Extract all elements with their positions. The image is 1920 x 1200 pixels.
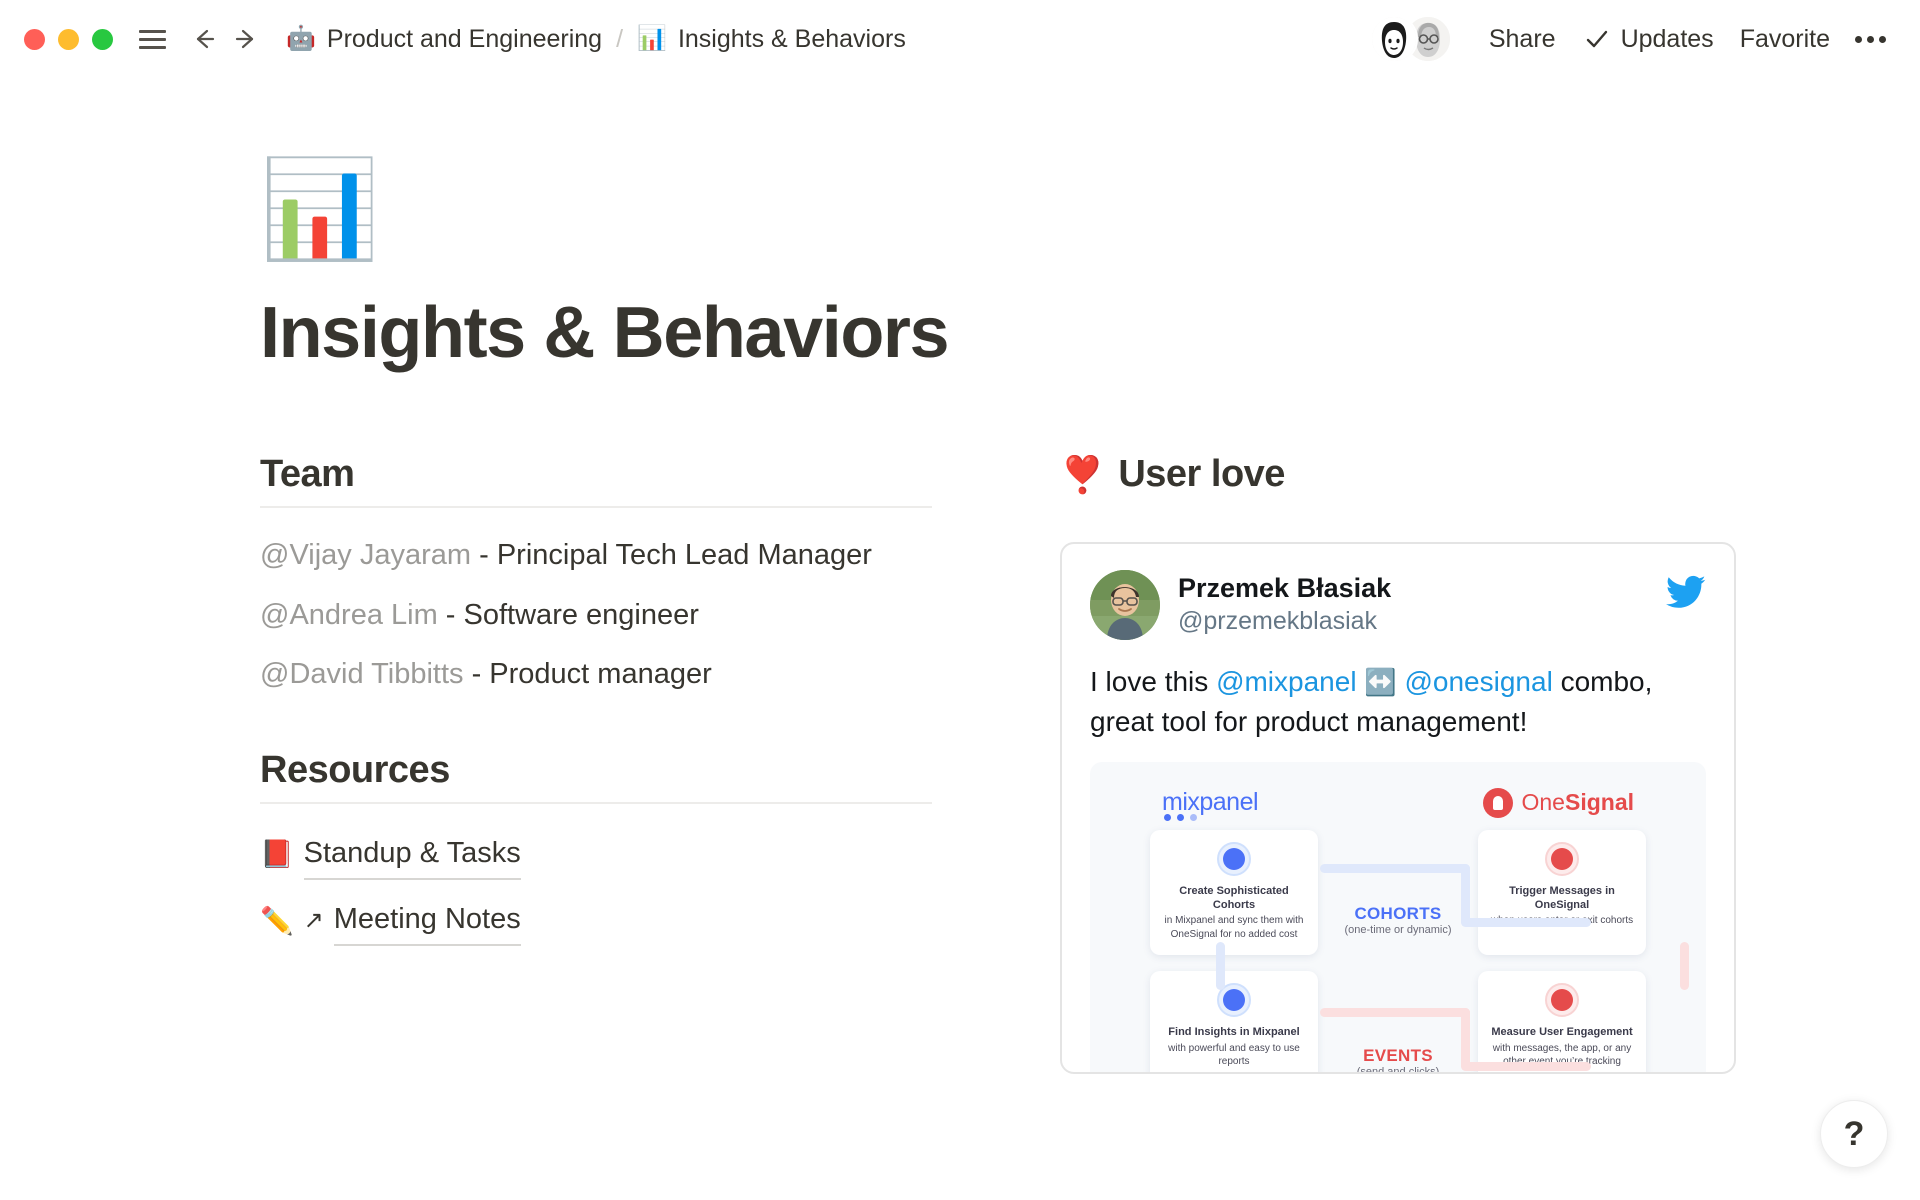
hamburger-icon bbox=[139, 30, 166, 49]
team-member-separator: - bbox=[438, 599, 464, 631]
share-button[interactable]: Share bbox=[1476, 19, 1569, 60]
diagram-card-subtitle: in Mixpanel and sync them with OneSignal… bbox=[1160, 914, 1308, 941]
tweet-text-part: I love this bbox=[1090, 666, 1216, 697]
document-list-icon bbox=[1217, 842, 1251, 876]
tweet-mention-mixpanel[interactable]: @mixpanel bbox=[1216, 666, 1356, 697]
flow-connector-right-vertical bbox=[1680, 942, 1689, 990]
breadcrumb: 🤖 Product and Engineering / 📊 Insights &… bbox=[279, 21, 913, 58]
diagram-card-title: Find Insights in Mixpanel bbox=[1160, 1025, 1308, 1039]
integration-diagram: mixpanel OneSignal bbox=[1090, 762, 1706, 1072]
two-column-layout: Team @Vijay Jayaram - Principal Tech Lea… bbox=[260, 453, 1860, 1074]
diagram-card: Find Insights in Mixpanel with powerful … bbox=[1150, 971, 1318, 1071]
flow-connector-cohorts-bottom bbox=[1461, 918, 1591, 927]
window-controls bbox=[24, 29, 113, 50]
team-member-separator: - bbox=[471, 539, 497, 571]
arrow-left-icon bbox=[188, 23, 220, 55]
breadcrumb-separator: / bbox=[609, 25, 630, 54]
flow-label-title: EVENTS bbox=[1357, 1046, 1440, 1066]
pencil-emoji: ✏️ bbox=[260, 900, 294, 943]
help-button[interactable]: ? bbox=[1820, 1100, 1888, 1168]
updates-button[interactable]: Updates bbox=[1569, 18, 1727, 60]
arrow-right-icon bbox=[230, 23, 262, 55]
flow-label-cohorts: COHORTS (one-time or dynamic) bbox=[1345, 904, 1452, 936]
ellipsis-icon bbox=[1879, 36, 1886, 43]
ellipsis-icon bbox=[1855, 36, 1862, 43]
external-link-arrow-icon: ↗ bbox=[304, 902, 324, 940]
flow-connector-events-mid bbox=[1461, 1008, 1470, 1070]
mixpanel-dots-icon bbox=[1164, 814, 1197, 821]
team-member-role: Product manager bbox=[489, 658, 711, 690]
user-love-heading: ❣️ User love bbox=[1060, 453, 1740, 496]
avatar bbox=[1370, 15, 1418, 63]
diagram-card-title: Trigger Messages in OneSignal bbox=[1488, 884, 1636, 913]
app-window: 🤖 Product and Engineering / 📊 Insights &… bbox=[0, 0, 1920, 1200]
tweet-text: I love this @mixpanel ↔️ @onesignal comb… bbox=[1090, 662, 1706, 742]
flow-connector-events-top bbox=[1320, 1008, 1470, 1017]
tweet-author-info: Przemek Błasiak @przemekblasiak bbox=[1178, 570, 1391, 637]
closed-book-emoji: 📕 bbox=[260, 833, 294, 876]
team-member-mention[interactable]: @Andrea Lim bbox=[260, 599, 438, 631]
mixpanel-logo-label: mixpanel bbox=[1162, 788, 1258, 816]
favorite-label: Favorite bbox=[1740, 25, 1830, 54]
tweet-media-image[interactable]: mixpanel OneSignal bbox=[1090, 762, 1706, 1072]
diagram-card-title: Measure User Engagement bbox=[1488, 1025, 1636, 1039]
flow-label-title: COHORTS bbox=[1345, 904, 1452, 924]
team-member-row: @Vijay Jayaram - Principal Tech Lead Man… bbox=[260, 534, 932, 578]
team-member-row: @David Tibbitts - Product manager bbox=[260, 653, 932, 697]
close-button[interactable] bbox=[24, 29, 45, 50]
flow-label-subtitle: (send and clicks) bbox=[1357, 1066, 1440, 1072]
onesignal-logo-icon: OneSignal bbox=[1483, 788, 1635, 818]
minimize-button[interactable] bbox=[58, 29, 79, 50]
team-member-mention[interactable]: @David Tibbitts bbox=[260, 658, 464, 690]
diagram-logos: mixpanel OneSignal bbox=[1120, 778, 1676, 818]
left-column: Team @Vijay Jayaram - Principal Tech Lea… bbox=[260, 453, 932, 1074]
tweet-mention-onesignal[interactable]: @onesignal bbox=[1404, 666, 1552, 697]
maximize-button[interactable] bbox=[92, 29, 113, 50]
diagram-cards-grid: COHORTS (one-time or dynamic) EVENTS (se… bbox=[1120, 830, 1676, 1072]
breadcrumb-label: Product and Engineering bbox=[327, 25, 602, 54]
diagram-card: Trigger Messages in OneSignal when users… bbox=[1478, 830, 1646, 956]
flow-connector-left-vertical bbox=[1216, 942, 1225, 990]
resource-link-meeting-notes[interactable]: ✏️ ↗ Meeting Notes bbox=[260, 896, 932, 946]
avatar-illustration-icon bbox=[1372, 17, 1416, 61]
diagram-card: Measure User Engagement with messages, t… bbox=[1478, 971, 1646, 1071]
column-gap bbox=[932, 453, 1060, 1074]
diagram-card-subtitle: with powerful and easy to use reports bbox=[1160, 1042, 1308, 1069]
heart-exclamation-emoji: ❣️ bbox=[1060, 454, 1104, 496]
flow-connector-cohorts-mid bbox=[1461, 864, 1470, 926]
tweet-author-name: Przemek Błasiak bbox=[1178, 572, 1391, 606]
resources-heading-label: Resources bbox=[260, 749, 450, 792]
collaborator-avatars[interactable] bbox=[1370, 15, 1456, 63]
tweet-embed-card[interactable]: Przemek Błasiak @przemekblasiak I love t… bbox=[1060, 542, 1736, 1074]
flow-connector-cohorts-top bbox=[1320, 864, 1470, 873]
resource-label: Meeting Notes bbox=[334, 896, 521, 946]
ellipsis-icon bbox=[1867, 36, 1874, 43]
titlebar-actions: Share Updates Favorite bbox=[1370, 0, 1898, 78]
diagram-card-title: Create Sophisticated Cohorts bbox=[1160, 884, 1308, 913]
bar-chart-emoji: 📊 bbox=[637, 27, 667, 51]
mixpanel-logo-icon: mixpanel bbox=[1162, 788, 1258, 818]
sidebar-toggle-button[interactable] bbox=[131, 18, 173, 60]
breadcrumb-item-insights-and-behaviors[interactable]: 📊 Insights & Behaviors bbox=[630, 21, 913, 58]
bell-icon bbox=[1545, 842, 1579, 876]
team-member-row: @Andrea Lim - Software engineer bbox=[260, 594, 932, 638]
tweet-author-handle: @przemekblasiak bbox=[1178, 606, 1391, 637]
team-member-mention[interactable]: @Vijay Jayaram bbox=[260, 539, 471, 571]
question-mark-icon: ? bbox=[1844, 1115, 1865, 1154]
flow-connector-events-bottom bbox=[1461, 1062, 1591, 1071]
page-icon[interactable]: 📊 bbox=[260, 150, 370, 270]
team-member-role: Software engineer bbox=[464, 599, 699, 631]
divider bbox=[260, 506, 932, 508]
resources-heading: Resources bbox=[260, 749, 932, 792]
resource-label: Standup & Tasks bbox=[304, 830, 521, 880]
right-column: ❣️ User love bbox=[1060, 453, 1740, 1074]
resource-link-standup-and-tasks[interactable]: 📕 Standup & Tasks bbox=[260, 830, 932, 880]
robot-emoji: 🤖 bbox=[286, 27, 316, 51]
updates-label: Updates bbox=[1621, 25, 1714, 54]
team-member-role: Principal Tech Lead Manager bbox=[497, 539, 872, 571]
twitter-bird-icon[interactable] bbox=[1666, 572, 1706, 617]
wave-chart-icon bbox=[1545, 983, 1579, 1017]
flow-label-subtitle: (one-time or dynamic) bbox=[1345, 924, 1452, 936]
page-title[interactable]: Insights & Behaviors bbox=[260, 294, 1860, 373]
team-member-separator: - bbox=[464, 658, 490, 690]
left-right-arrow-emoji: ↔️ bbox=[1364, 667, 1396, 697]
favorite-button[interactable]: Favorite bbox=[1727, 19, 1843, 60]
breadcrumb-item-product-and-engineering[interactable]: 🤖 Product and Engineering bbox=[279, 21, 609, 58]
team-heading: Team bbox=[260, 453, 932, 496]
divider bbox=[260, 802, 932, 804]
onesignal-mark-icon bbox=[1483, 788, 1513, 818]
user-love-heading-label: User love bbox=[1118, 453, 1285, 496]
breadcrumb-label: Insights & Behaviors bbox=[678, 25, 906, 54]
onesignal-logo-label: OneSignal bbox=[1522, 789, 1635, 816]
diagram-card: Create Sophisticated Cohorts in Mixpanel… bbox=[1150, 830, 1318, 956]
tweet-author-avatar[interactable] bbox=[1090, 570, 1160, 640]
avatar-photo-icon bbox=[1090, 570, 1160, 640]
flow-label-events: EVENTS (send and clicks) bbox=[1357, 1046, 1440, 1072]
back-button[interactable] bbox=[183, 18, 225, 60]
titlebar: 🤖 Product and Engineering / 📊 Insights &… bbox=[0, 0, 1920, 78]
tweet-header: Przemek Błasiak @przemekblasiak bbox=[1090, 570, 1706, 640]
more-options-button[interactable] bbox=[1843, 26, 1898, 53]
team-heading-label: Team bbox=[260, 453, 354, 496]
share-label: Share bbox=[1489, 25, 1556, 54]
check-icon bbox=[1582, 24, 1612, 54]
page-content: 📊 Insights & Behaviors Team @Vijay Jayar… bbox=[0, 150, 1920, 1074]
forward-button[interactable] bbox=[225, 18, 267, 60]
